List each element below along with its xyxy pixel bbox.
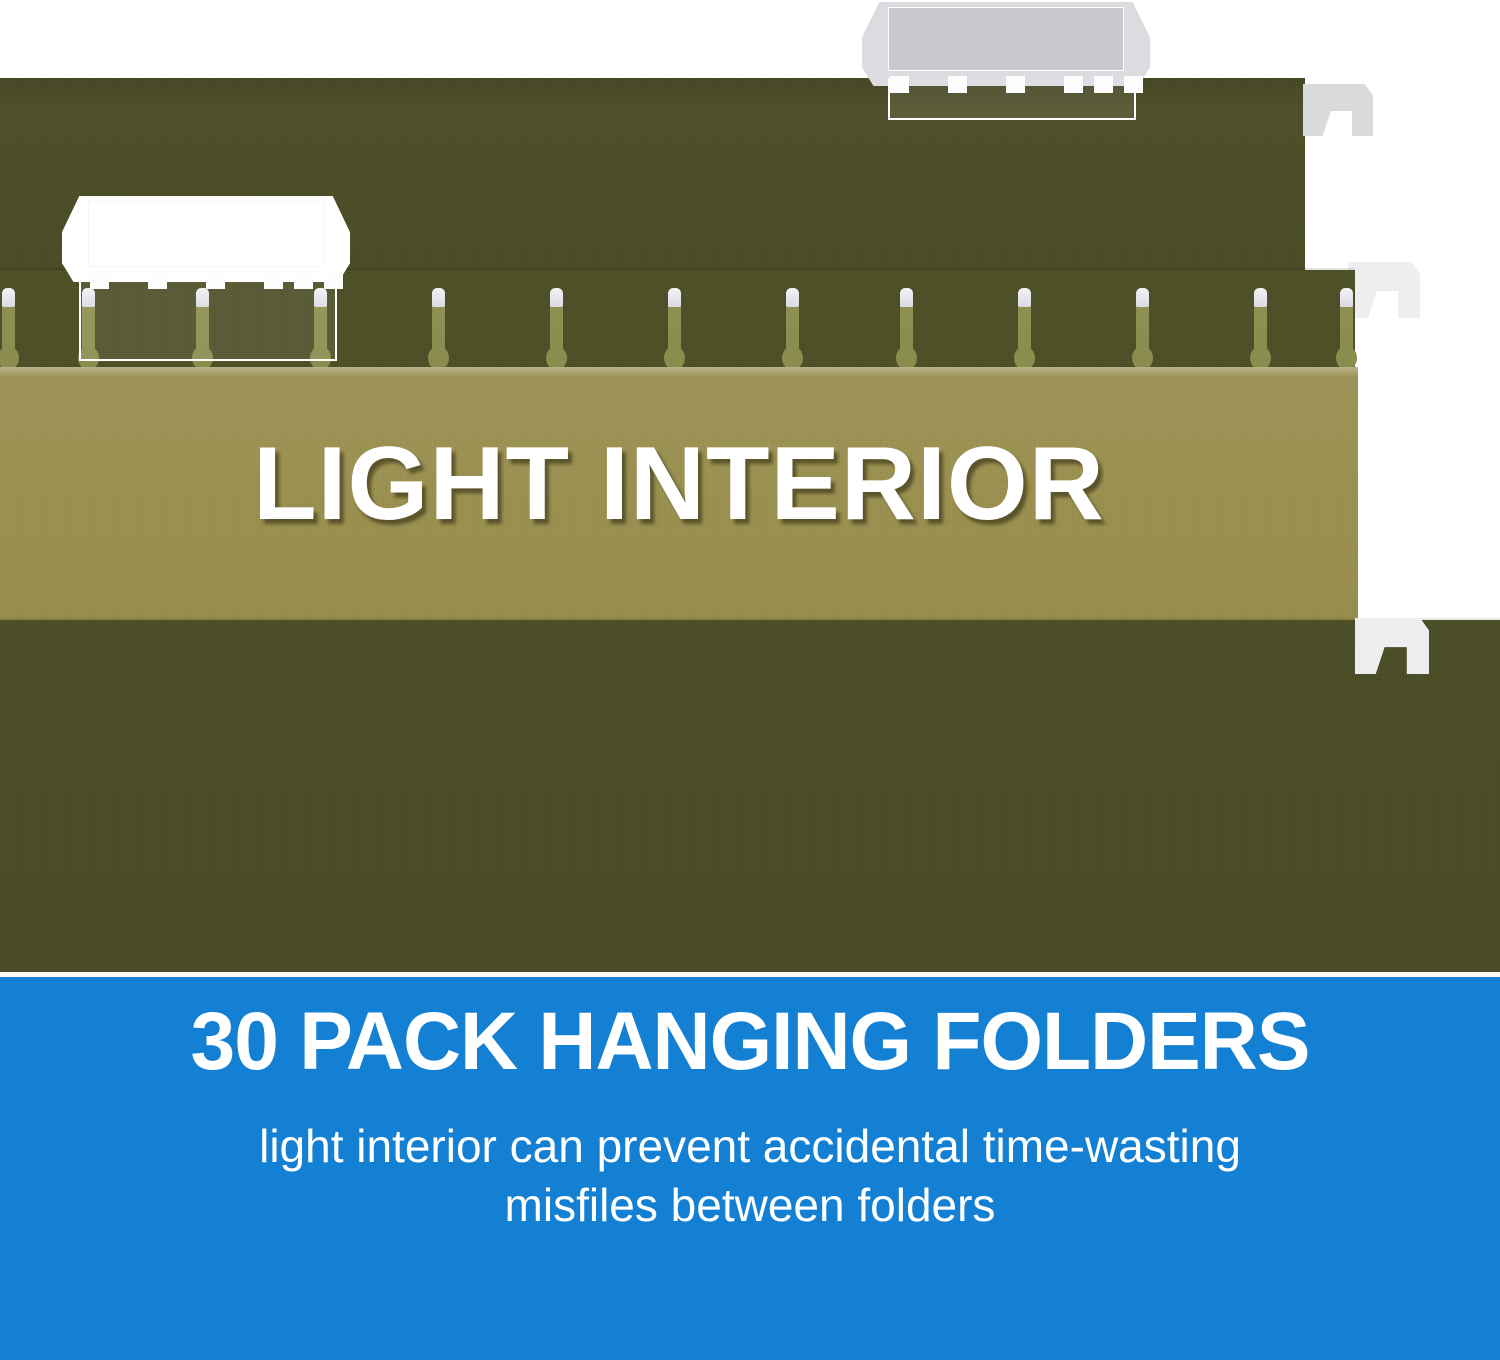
banner-subtext: light interior can prevent accidental ti… [0,1117,1500,1235]
banner-subtext-line-1: light interior can prevent accidental ti… [259,1120,1241,1172]
tab-slot [900,288,913,366]
top-tab-body [862,2,1150,86]
banner-subtext-line-2: misfiles between folders [0,1176,1500,1235]
tab-slot [1340,288,1353,366]
top-tab-insert[interactable] [862,2,1150,86]
marketing-banner: 30 PACK HANGING FOLDERS light interior c… [0,977,1500,1360]
product-image-canvas: LIGHT INTERIOR 30 PACK HANGING FOLDERS l… [0,0,1500,1360]
paper-grain-texture [0,620,1500,977]
tab-slot [2,288,15,366]
tab-slot [550,288,563,366]
light-interior-band-highlight [0,367,1358,377]
light-interior-headline: LIGHT INTERIOR [0,432,1358,536]
banner-headline: 30 PACK HANGING FOLDERS [15,1001,1485,1083]
tab-slot [1018,288,1031,366]
left-tab-body [62,196,350,282]
tab-slot [1254,288,1267,366]
left-tab-label-card [88,201,324,266]
top-tab-slot-outline [888,78,1136,120]
tab-slot [432,288,445,366]
tab-slot [786,288,799,366]
tab-slot [668,288,681,366]
hook-middle-right-icon [1348,262,1420,318]
left-tab-slot-outline [79,276,337,361]
tab-slot [1136,288,1149,366]
left-tab-insert[interactable] [62,196,350,282]
hook-top-right-icon [1303,84,1373,136]
front-folder [0,620,1500,977]
top-tab-label-card [888,7,1124,71]
